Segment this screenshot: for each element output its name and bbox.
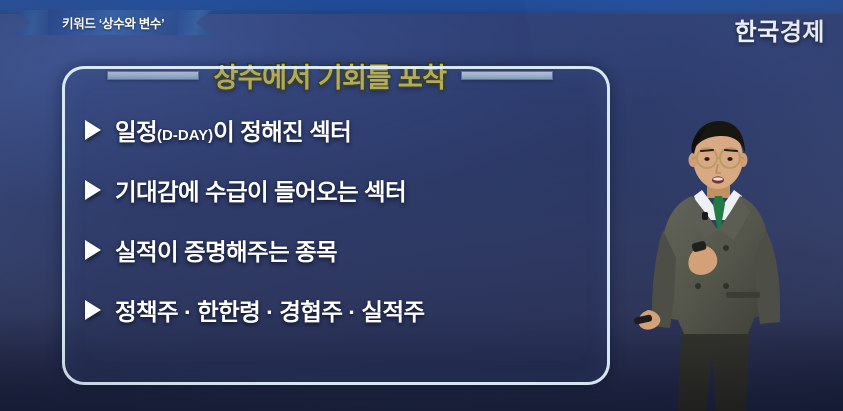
list-item: 정책주 · 한한령 · 경협주 · 실적주	[85, 293, 595, 327]
bullet-text: 정책주 · 한한령 · 경협주 · 실적주	[115, 293, 425, 327]
triangle-right-icon	[85, 180, 101, 200]
keyword-banner-label: 키워드 ‘상수와 변수’	[62, 13, 164, 32]
bullet-main-b: 이 정해진 섹터	[213, 119, 351, 145]
list-item: 실적이 증명해주는 종목	[85, 233, 595, 267]
triangle-right-icon	[85, 240, 101, 260]
channel-logo: 한국경제	[735, 12, 825, 47]
banner-left-chevron-icon	[14, 10, 48, 35]
bullet-text: 일정(D-DAY)이 정해진 섹터	[115, 113, 351, 147]
triangle-right-icon	[85, 300, 101, 320]
triangle-right-icon	[85, 120, 101, 140]
broadcast-stage: 키워드 ‘상수와 변수’ 한국경제 상수에서 기회를 포착 일정(D-DAY)이…	[0, 0, 843, 411]
bullet-main-a: 실적이 증명해주는 종목	[115, 239, 337, 265]
content-panel: 일정(D-DAY)이 정해진 섹터 기대감에 수급이 들어오는 섹터 실적이 증…	[62, 66, 610, 385]
bullet-text: 실적이 증명해주는 종목	[115, 233, 337, 267]
bullet-list: 일정(D-DAY)이 정해진 섹터 기대감에 수급이 들어오는 섹터 실적이 증…	[85, 113, 595, 327]
banner-body: 키워드 ‘상수와 변수’	[48, 10, 178, 35]
keyword-banner: 키워드 ‘상수와 변수’	[14, 10, 212, 35]
list-item: 일정(D-DAY)이 정해진 섹터	[85, 113, 595, 147]
presenter-figure	[630, 120, 843, 411]
bullet-text: 기대감에 수급이 들어오는 섹터	[115, 173, 406, 207]
banner-right-chevron-icon	[178, 10, 212, 35]
bullet-main-a: 정책주 · 한한령 · 경협주 · 실적주	[115, 299, 425, 325]
bullet-main-a: 기대감에 수급이 들어오는 섹터	[115, 179, 406, 205]
bullet-main-a: 일정	[115, 119, 157, 145]
list-item: 기대감에 수급이 들어오는 섹터	[85, 173, 595, 207]
bullet-sub: (D-DAY)	[157, 127, 213, 144]
